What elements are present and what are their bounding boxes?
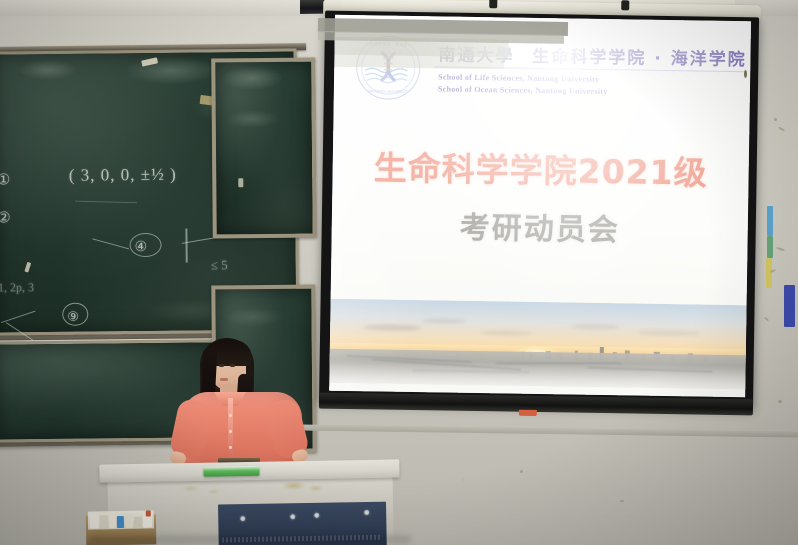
chalk-box-contents xyxy=(88,510,154,529)
chalk-pack-blue xyxy=(117,516,124,528)
chalk-orbital-note: 1, 2p, 3 xyxy=(0,280,34,295)
mouth xyxy=(220,378,228,381)
lectern-screw xyxy=(314,513,319,518)
chalk-circle-9 xyxy=(62,303,88,326)
chalkboard-smudge-mid-2 xyxy=(226,110,280,128)
lectern-screw xyxy=(240,516,245,521)
chalk-pack xyxy=(90,513,99,528)
chalk-pack xyxy=(134,517,142,528)
eye-right xyxy=(230,364,235,367)
chalk-underline xyxy=(75,201,137,204)
shirt-button xyxy=(229,446,232,449)
presentation-slide: 生命科学学院 · 海洋学院 NANTONG UNIVERSITY xyxy=(329,15,751,397)
chalkboard-smudge-1 xyxy=(124,56,220,85)
lectern-screw xyxy=(364,510,369,515)
chalk-pack-red xyxy=(146,510,151,516)
chalkboard-dust-mid-top xyxy=(215,62,312,235)
chalkboard-smudge-mid-3 xyxy=(223,307,283,328)
slide-title-primary: 生命科学学院2021级 xyxy=(332,141,749,196)
chalk-fragment-mid xyxy=(238,178,243,187)
projection-screen-surface: 生命科学学院 · 海洋学院 NANTONG UNIVERSITY xyxy=(329,15,751,397)
wall-speck xyxy=(774,118,777,121)
presenter-figure xyxy=(176,338,326,478)
wall-sticker-navy xyxy=(784,285,795,327)
wall-speck xyxy=(778,400,782,403)
shirt-button xyxy=(229,414,232,417)
screen-pull-tab xyxy=(519,410,537,416)
wall-speck xyxy=(520,470,523,473)
chalkboard-smudge-2 xyxy=(18,60,78,81)
shirt-placket xyxy=(228,398,233,460)
roller-bracket-right xyxy=(621,0,629,10)
chalk-diagonal-2 xyxy=(1,311,36,324)
organization-name-english: School of Life Sciences, Nantong Univers… xyxy=(438,71,608,98)
chalk-fragment-4 xyxy=(24,262,31,273)
slide-title-secondary: 考研动员会 xyxy=(331,201,748,252)
wall-speck xyxy=(744,70,747,78)
chalk-mark-1: ① xyxy=(0,170,10,189)
roller-bracket-left xyxy=(489,0,497,8)
podium-shadow xyxy=(90,536,410,545)
chalk-mark-2: ② xyxy=(0,208,11,227)
lectern-screw xyxy=(290,514,295,519)
chalk-circle-4 xyxy=(129,233,161,257)
projection-screen-frame: 生命科学学院 · 海洋学院 NANTONG UNIVERSITY xyxy=(319,11,759,408)
photo-foreground xyxy=(329,349,745,389)
chalk-fragment-1 xyxy=(141,57,158,66)
chalk-pack xyxy=(100,515,108,528)
photo-cloud-3 xyxy=(480,330,532,336)
middle-upper-chalkboard-panel xyxy=(211,58,317,239)
chalk-quantum-numbers: ( 3, 0, 0, ±½ ) xyxy=(69,165,177,186)
chalk-pack xyxy=(125,514,133,528)
chalkboard-smudge-mid-1 xyxy=(221,66,283,91)
wall-sticker-blue xyxy=(767,206,773,236)
chalk-up-arrow xyxy=(185,229,187,263)
wall-sticker-green xyxy=(767,236,773,258)
chalk-inequality: ≤ 5 xyxy=(211,257,228,273)
projection-screen-assembly: 生命科学学院 · 海洋学院 NANTONG UNIVERSITY xyxy=(315,1,764,426)
chalk-pack xyxy=(109,512,116,528)
org-en-line-2: School of Ocean Sciences, Nantong Univer… xyxy=(438,83,608,98)
wall-sticker-yellow xyxy=(766,258,772,288)
school-name-cn: 生命科学学院 · 海洋学院 xyxy=(532,47,747,70)
wall-speck xyxy=(620,500,624,502)
chalk-pointer-line-1 xyxy=(92,238,129,249)
eye-left xyxy=(219,364,224,367)
green-folder-on-lectern xyxy=(203,466,259,477)
photo-bottom-fade xyxy=(329,349,745,389)
classroom-photo-scene: ① ( 3, 0, 0, ±½ ) ② 1, 2p, 3 ④ ⑨ 数学 ≤ 5 xyxy=(0,0,798,545)
shirt-button xyxy=(229,430,232,433)
slide-cityscape-photo xyxy=(329,299,746,390)
